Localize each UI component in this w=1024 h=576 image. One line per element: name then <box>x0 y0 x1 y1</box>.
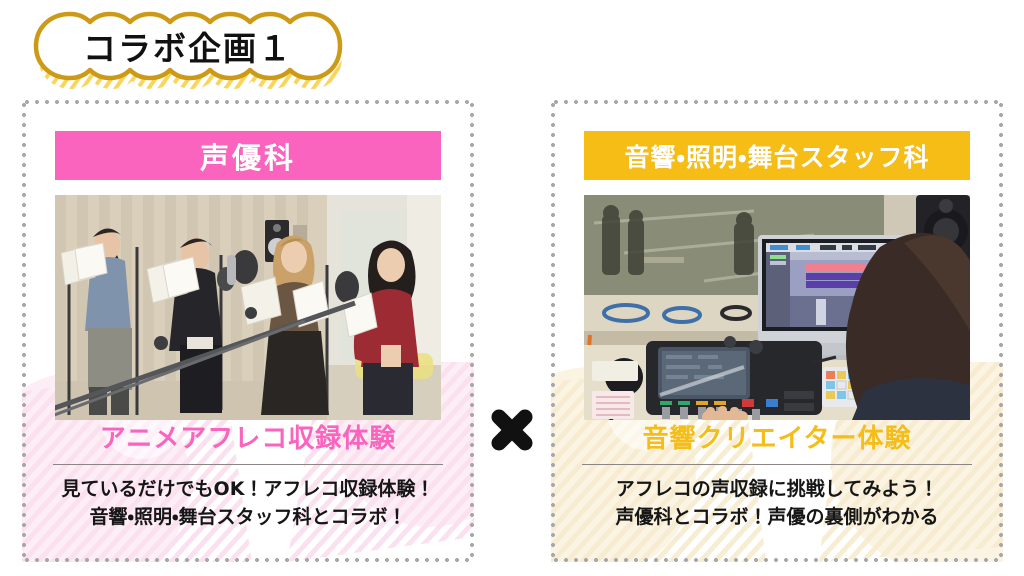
multiply-cross-icon <box>488 406 536 454</box>
caption-voice-actor: アニメアフレコ収録体験 見ているだけでもOK！アフレコ収録体験！ 音響・照明・舞… <box>38 425 458 532</box>
dotted-border-bottom <box>22 558 474 562</box>
dotted-border-left <box>551 100 555 562</box>
dotted-border-right <box>470 100 474 562</box>
title-badge-label: コラボ企画１ <box>28 8 348 84</box>
caption-body-sound-lighting-stage: アフレコの声収録に挑戦してみよう！ 声優科とコラボ！声優の裏側がわかる <box>567 475 987 532</box>
department-header-voice-actor: 声優科 <box>55 131 441 180</box>
caption-divider <box>53 464 443 465</box>
caption-body-line-2: 音響・照明・舞台スタッフ科とコラボ！ <box>38 503 458 532</box>
caption-body-line-1: 見ているだけでもOK！アフレコ収録体験！ <box>38 475 458 504</box>
caption-title-voice-actor: アニメアフレコ収録体験 <box>38 425 458 455</box>
caption-body-line-1: アフレコの声収録に挑戦してみよう！ <box>567 475 987 504</box>
caption-body-voice-actor: 見ているだけでもOK！アフレコ収録体験！ 音響・照明・舞台スタッフ科とコラボ！ <box>38 475 458 532</box>
photo-audio-control-room <box>584 195 970 420</box>
panel-sound-lighting-stage: 音響・照明・舞台スタッフ科 <box>551 100 1003 562</box>
photo-recording-studio <box>55 195 441 420</box>
multiply-cross-glyph <box>488 406 536 454</box>
title-badge: コラボ企画１ <box>28 8 348 90</box>
dotted-border-top <box>22 100 474 104</box>
caption-body-line-2: 声優科とコラボ！声優の裏側がわかる <box>567 503 987 532</box>
panels-container: 声優科 <box>0 100 1024 568</box>
caption-sound-lighting-stage: 音響クリエイター体験 アフレコの声収録に挑戦してみよう！ 声優科とコラボ！声優の… <box>567 425 987 532</box>
dotted-border-bottom <box>551 558 1003 562</box>
photo-audio-control-room-art <box>584 195 970 420</box>
caption-divider <box>582 464 972 465</box>
dotted-border-right <box>999 100 1003 562</box>
panel-voice-actor: 声優科 <box>22 100 474 562</box>
dotted-border-top <box>551 100 1003 104</box>
caption-title-sound-lighting-stage: 音響クリエイター体験 <box>567 425 987 455</box>
photo-recording-studio-art <box>55 195 441 420</box>
dotted-border-left <box>22 100 26 562</box>
department-header-sound-lighting-stage: 音響・照明・舞台スタッフ科 <box>584 131 970 180</box>
